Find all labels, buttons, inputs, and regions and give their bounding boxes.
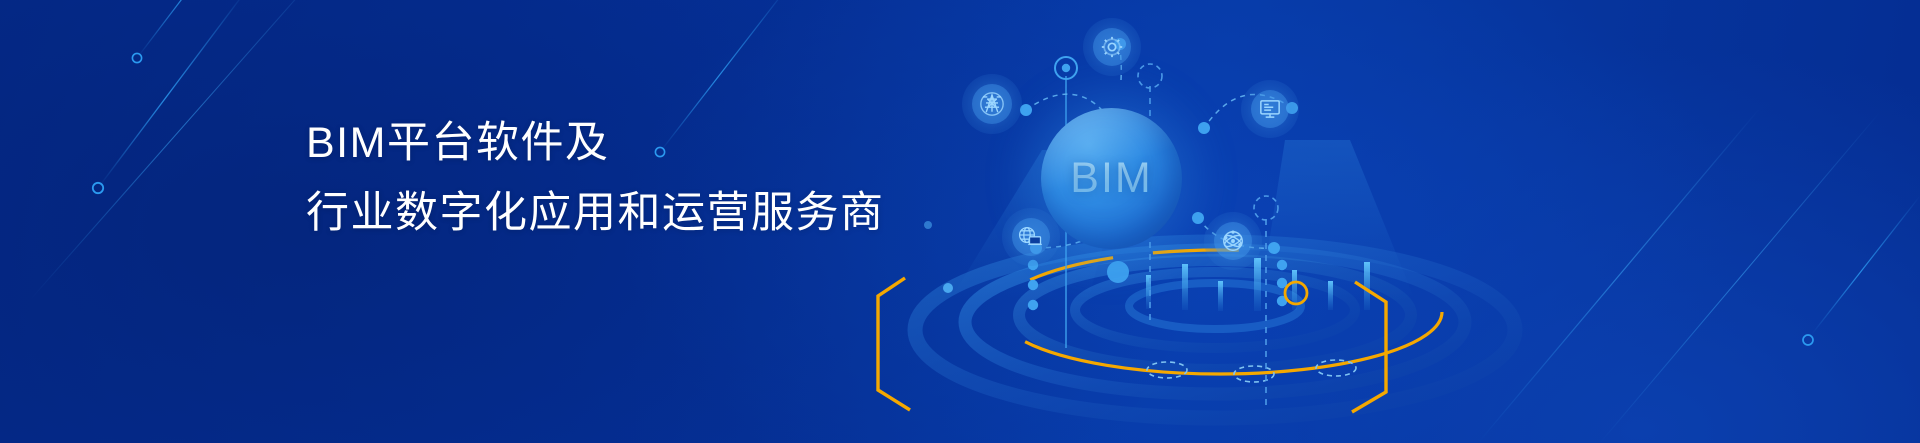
power-tower-icon <box>977 89 1007 119</box>
shooting-line-top-left <box>137 0 242 58</box>
headline-line-1: BIM平台软件及 <box>306 108 885 178</box>
network-icon <box>1219 227 1247 255</box>
shooting-line-left <box>98 0 248 188</box>
bracket-left <box>878 278 910 410</box>
floating-dot-small <box>943 283 953 293</box>
floating-dot-large <box>1107 261 1129 283</box>
network-icon-bubble[interactable] <box>1204 212 1262 270</box>
sphere-label: BIM <box>1041 108 1182 249</box>
headline-block: BIM平台软件及 行业数字化应用和运营服务商 <box>306 108 885 248</box>
shooting-line-faint <box>30 0 330 300</box>
hero-illustration: BIM <box>830 0 1920 443</box>
monitor-icon <box>1256 95 1284 123</box>
globe-laptop-icon <box>1016 223 1046 251</box>
radar-platform <box>915 242 1515 418</box>
globe-laptop-icon-bubble[interactable] <box>1002 208 1060 266</box>
hero-vector-art <box>830 0 1920 443</box>
dotted-column <box>1028 260 1038 310</box>
gear-icon-bubble[interactable] <box>1083 18 1141 76</box>
headline-line-2: 行业数字化应用和运营服务商 <box>306 178 885 248</box>
bim-hero-banner: BIM平台软件及 行业数字化应用和运营服务商 <box>0 0 1920 443</box>
gear-icon <box>1099 34 1125 60</box>
floating-dot-tiny <box>924 221 932 229</box>
power-tower-icon-bubble[interactable] <box>962 74 1022 134</box>
monitor-icon-bubble[interactable] <box>1241 80 1299 138</box>
bim-sphere: BIM <box>1041 108 1182 249</box>
